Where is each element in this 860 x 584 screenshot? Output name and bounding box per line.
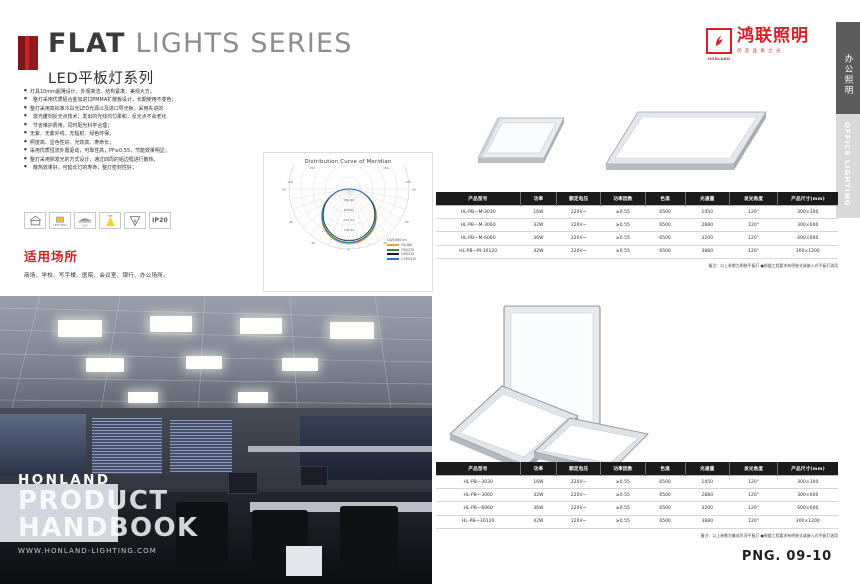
cell-voltage: 220V~	[557, 206, 601, 219]
cell-power: 42W	[520, 515, 556, 528]
window-blinds	[92, 418, 162, 474]
office-chair	[340, 506, 398, 576]
product-render-rectangle	[600, 96, 775, 192]
cell-dimensions: 300×1200	[778, 245, 838, 258]
col-model: 产品型号	[436, 192, 520, 206]
cell-dimensions: 300×300	[778, 206, 838, 219]
title-block: FLAT LIGHTS SERIES LED平板灯系列	[18, 30, 438, 88]
cell-voltage: 220V~	[557, 219, 601, 232]
cell-lumens: 2880	[685, 219, 729, 232]
page-title-light: LIGHTS SERIES	[135, 28, 352, 59]
table-header-row: 产品型号 功率 额定电压 功率因数 色温 光通量 发光角度 产品尺寸(mm)	[436, 462, 838, 476]
chart-title: Distribution Curve of Meridian	[264, 153, 432, 165]
radial-label: 762.40	[344, 198, 355, 202]
page-subtitle: LED平板灯系列	[48, 67, 438, 88]
lamp-body-icon: 120°	[74, 212, 96, 229]
house-icon	[24, 212, 46, 229]
feature-item: 灯具10mm超薄设计，外观简洁、结构紧凑、美观大方；	[24, 88, 260, 96]
legend-label: C45/225	[401, 252, 414, 256]
table-row: HL-PB—3030 16W 220V~ ≥0.55 6500 1450 120…	[436, 476, 838, 489]
light-distribution-chart: Distribution Curve of Meridian	[263, 152, 433, 292]
cell-color-temp: 6500	[645, 245, 685, 258]
page-number: PNG. 09-10	[742, 549, 832, 564]
cell-voltage: 220V~	[557, 502, 601, 515]
ceiling-panel-light	[58, 320, 102, 337]
ceiling-panel-light	[128, 392, 158, 403]
brand-line-2: HANDBOOK	[18, 515, 318, 542]
legend-label: C0/180	[401, 243, 412, 247]
feature-item: 照度高、显色性好、光效高、寿命长；	[24, 139, 260, 147]
cell-voltage: 220V~	[557, 489, 601, 502]
svg-text:150: 150	[309, 166, 315, 170]
section-tab: 办公照明 OFFICE LIGHTING	[836, 22, 860, 218]
svg-text:60: 60	[289, 220, 293, 224]
cell-voltage: 220V~	[557, 476, 601, 489]
feature-list: 灯具10mm超薄设计，外观简洁、结构紧凑、美观大方； 整灯采用优质铝合金加进口P…	[24, 88, 260, 172]
cell-model: HL-PB—M-30120	[436, 245, 520, 258]
application-title: 适用场所	[24, 246, 169, 265]
ceiling-panel-light	[238, 392, 268, 403]
legend-swatch	[387, 249, 399, 251]
logo-chinese-name: 鸿联照明	[737, 28, 809, 45]
table-header-row: 产品型号 功率 额定电压 功率因数 色温 光通量 发光角度 产品尺寸(mm)	[436, 192, 838, 206]
col-beam-angle: 发光角度	[729, 192, 777, 206]
cell-power-factor: ≥0.55	[601, 206, 645, 219]
polar-plot: 762.40 609.92 457.44 304.96 152.48 0° 90…	[264, 165, 434, 269]
partition	[248, 446, 432, 452]
svg-text:30: 30	[311, 241, 315, 245]
cell-beam-angle: 120°	[729, 476, 777, 489]
page-title-bold: FLAT	[48, 28, 126, 59]
legend-swatch	[387, 258, 399, 260]
page-title: FLAT LIGHTS SERIES	[48, 30, 438, 57]
cell-dimensions: 300×600	[778, 219, 838, 232]
cell-beam-angle: 120°	[729, 489, 777, 502]
col-voltage: 额定电压	[557, 462, 601, 476]
cell-power: 36W	[520, 502, 556, 515]
beam-angle-icon	[99, 212, 121, 229]
cell-beam-angle: 120°	[729, 232, 777, 245]
cell-voltage: 220V~	[557, 232, 601, 245]
spec-table-bottom: 产品型号 功率 额定电压 功率因数 色温 光通量 发光角度 产品尺寸(mm) H…	[436, 462, 838, 539]
cell-lumens: 1450	[685, 476, 729, 489]
cell-model: HL-PB—M-3030	[436, 206, 520, 219]
svg-text:120°: 120°	[82, 223, 89, 227]
col-dimensions: 产品尺寸(mm)	[778, 462, 838, 476]
svg-text:LED SMD: LED SMD	[53, 223, 67, 227]
col-dimensions: 产品尺寸(mm)	[778, 192, 838, 206]
table-row: HL-PB—6060 36W 220V~ ≥0.55 6500 3200 120…	[436, 502, 838, 515]
cell-dimensions: 300×300	[778, 476, 838, 489]
col-color-temp: 色温	[645, 192, 685, 206]
cell-lumens: 3880	[685, 515, 729, 528]
table-row: HL-PB—M-6060 36W 220V~ ≥0.55 6500 3200 1…	[436, 232, 838, 245]
legend-unit-label: Cd/1000 lm	[387, 238, 429, 242]
svg-text:60: 60	[405, 220, 409, 224]
cell-power-factor: ≥0.55	[601, 245, 645, 258]
feature-item-cont: 散热效果好，可延长灯的寿命，整灯密封性好；	[24, 164, 260, 172]
application-section: 适用场所 商场、学校、写字楼、医院、会议室、银行、办公场所。	[24, 246, 169, 279]
window	[0, 414, 86, 476]
section-tab-label-cn: 办公照明	[842, 54, 854, 96]
logo-english-name: HONLAND	[708, 57, 730, 61]
col-power: 功率	[520, 192, 556, 206]
table-note: 备注：以上参数为集成吊顶平板灯 ●根据工程要求有明装式或嵌入式平板灯选用	[436, 533, 838, 539]
cell-dimensions: 600×600	[778, 232, 838, 245]
feature-item: 整灯采用侧发光的方式设计，通过四周的铝边框进行散热，	[24, 156, 260, 164]
spec-table-top: 产品型号 功率 额定电压 功率因数 色温 光通量 发光角度 产品尺寸(mm) H…	[436, 192, 838, 269]
cell-beam-angle: 120°	[729, 219, 777, 232]
radial-label: 152.48	[344, 238, 355, 242]
cell-beam-angle: 120°	[729, 502, 777, 515]
radial-label: 457.44	[344, 218, 355, 222]
col-power-factor: 功率因数	[601, 192, 645, 206]
cell-beam-angle: 120°	[729, 515, 777, 528]
col-lumens: 光通量	[685, 462, 729, 476]
feature-item-cont: 整灯采用优质铝合金加进口PMMA扩散板设计，长期使用不变色；	[24, 96, 260, 104]
radial-label: 609.92	[344, 208, 355, 212]
cell-color-temp: 6500	[645, 502, 685, 515]
spec-icon-strip: LED SMD 120° IP20	[24, 212, 171, 229]
col-power-factor: 功率因数	[601, 462, 645, 476]
svg-text:90: 90	[282, 188, 286, 192]
cell-model: HL-PB—M-3060	[436, 219, 520, 232]
feature-item: 整灯采用高标准冷白光LED光源以及进口导光板，采用先进的	[24, 105, 260, 113]
cell-power-factor: ≥0.55	[601, 476, 645, 489]
window-blinds	[170, 420, 232, 472]
cell-power: 42W	[520, 245, 556, 258]
ip-rating-label: IP20	[152, 217, 168, 224]
cell-lumens: 3880	[685, 245, 729, 258]
section-tab-label-en: OFFICE LIGHTING	[843, 122, 851, 207]
col-beam-angle: 发光角度	[729, 462, 777, 476]
ceiling-panel-light	[186, 356, 222, 369]
red-accent-bars	[18, 36, 38, 70]
cell-power: 32W	[520, 219, 556, 232]
led-chip-icon: LED SMD	[49, 212, 71, 229]
product-render-square	[470, 100, 580, 192]
cell-power-factor: ≥0.55	[601, 219, 645, 232]
cell-power-factor: ≥0.55	[601, 489, 645, 502]
legend-swatch	[387, 244, 399, 246]
ceiling-panel-light	[330, 322, 374, 339]
cell-power: 16W	[520, 206, 556, 219]
col-model: 产品型号	[436, 462, 520, 476]
cell-model: HL-PB—3060	[436, 489, 520, 502]
svg-text:120: 120	[287, 180, 293, 184]
cell-power-factor: ≥0.55	[601, 515, 645, 528]
legend-item: C135/315	[387, 257, 429, 262]
voltage-warning-icon	[124, 212, 146, 229]
feature-item: 采用优质恒流外置驱动，可靠性高，PF≥0.55，节能效果明显；	[24, 147, 260, 155]
table-row: HL-PB—M-30120 42W 220V~ ≥0.55 6500 3880 …	[436, 245, 838, 258]
svg-text:90: 90	[412, 188, 416, 192]
ceiling-panel-light	[240, 318, 282, 334]
cell-color-temp: 6500	[645, 219, 685, 232]
cell-color-temp: 6500	[645, 515, 685, 528]
logo-tagline: 创造品质之光	[737, 48, 809, 54]
catalog-page: FLAT LIGHTS SERIES LED平板灯系列 灯具10mm超薄设计，外…	[0, 0, 860, 584]
cell-model: HL-PB—30120	[436, 515, 520, 528]
cell-voltage: 220V~	[557, 245, 601, 258]
cell-power: 32W	[520, 489, 556, 502]
ceiling-panel-light	[150, 316, 192, 332]
cell-power-factor: ≥0.55	[601, 232, 645, 245]
table-row: HL-PB—3060 32W 220V~ ≥0.55 6500 2880 120…	[436, 489, 838, 502]
cell-color-temp: 6500	[645, 476, 685, 489]
company-logo: HONLAND 鸿联照明 创造品质之光	[706, 28, 809, 54]
legend-swatch	[387, 253, 399, 255]
svg-text:150: 150	[383, 166, 389, 170]
cell-lumens: 3200	[685, 232, 729, 245]
table-row: HL-PB—30120 42W 220V~ ≥0.55 6500 3880 12…	[436, 515, 838, 528]
chart-legend: Cd/1000 lm C0/180 C90/270 C45/225 C135/3…	[387, 238, 429, 261]
ceiling-panel-light	[86, 358, 124, 372]
honland-mark-icon: HONLAND	[706, 28, 732, 54]
cell-dimensions: 300×600	[778, 489, 838, 502]
brand-overlay: HONLAND PRODUCT HANDBOOK WWW.HONLAND-LIG…	[18, 472, 318, 555]
cell-model: HL-PB—M-6060	[436, 232, 520, 245]
legend-label: C90/270	[401, 248, 414, 252]
feature-item: 无紫、无紫外线、无辐射、绿色环保；	[24, 130, 260, 138]
cell-color-temp: 6500	[645, 206, 685, 219]
application-text: 商场、学校、写字楼、医院、会议室、银行、办公场所。	[24, 271, 169, 279]
office-photo: HONLAND PRODUCT HANDBOOK WWW.HONLAND-LIG…	[0, 296, 432, 584]
cell-lumens: 2880	[685, 489, 729, 502]
col-voltage: 额定电压	[557, 192, 601, 206]
feature-item-cont: 节省维护费用，同时配光科学合理；	[24, 122, 260, 130]
table-row: HL-PB—M-3060 32W 220V~ ≥0.55 6500 2880 1…	[436, 219, 838, 232]
cell-lumens: 3200	[685, 502, 729, 515]
cell-lumens: 1450	[685, 206, 729, 219]
svg-text:120: 120	[405, 180, 411, 184]
ip-rating-icon: IP20	[149, 212, 171, 229]
cell-color-temp: 6500	[645, 489, 685, 502]
radial-label: 304.96	[344, 228, 355, 232]
cell-model: HL-PB—6060	[436, 502, 520, 515]
feature-item-cont: 激光雕刻反光点技术，发出的光线均匀柔和，反光点不会老化	[24, 113, 260, 121]
col-power: 功率	[520, 462, 556, 476]
cell-voltage: 220V~	[557, 515, 601, 528]
cell-model: HL-PB—3030	[436, 476, 520, 489]
col-lumens: 光通量	[685, 192, 729, 206]
brand-website: WWW.HONLAND-LIGHTING.COM	[18, 547, 318, 555]
cell-power: 36W	[520, 232, 556, 245]
cell-dimensions: 300×1200	[778, 515, 838, 528]
cell-color-temp: 6500	[645, 232, 685, 245]
brand-line-1: PRODUCT	[18, 488, 318, 515]
cell-beam-angle: 120°	[729, 245, 777, 258]
table-note: 备注：以上参数为明装平板灯 ●根据工程要求有明装式或嵌入式平板灯选用	[436, 263, 838, 269]
table-row: HL-PB—M-3030 16W 220V~ ≥0.55 6500 1450 1…	[436, 206, 838, 219]
cell-dimensions: 600×600	[778, 502, 838, 515]
ceiling-panel-light	[282, 358, 318, 371]
col-color-temp: 色温	[645, 462, 685, 476]
cell-beam-angle: 120°	[729, 206, 777, 219]
svg-text:0°: 0°	[347, 248, 351, 252]
cell-power-factor: ≥0.55	[601, 502, 645, 515]
legend-label: C135/315	[401, 257, 416, 261]
cell-power: 16W	[520, 476, 556, 489]
